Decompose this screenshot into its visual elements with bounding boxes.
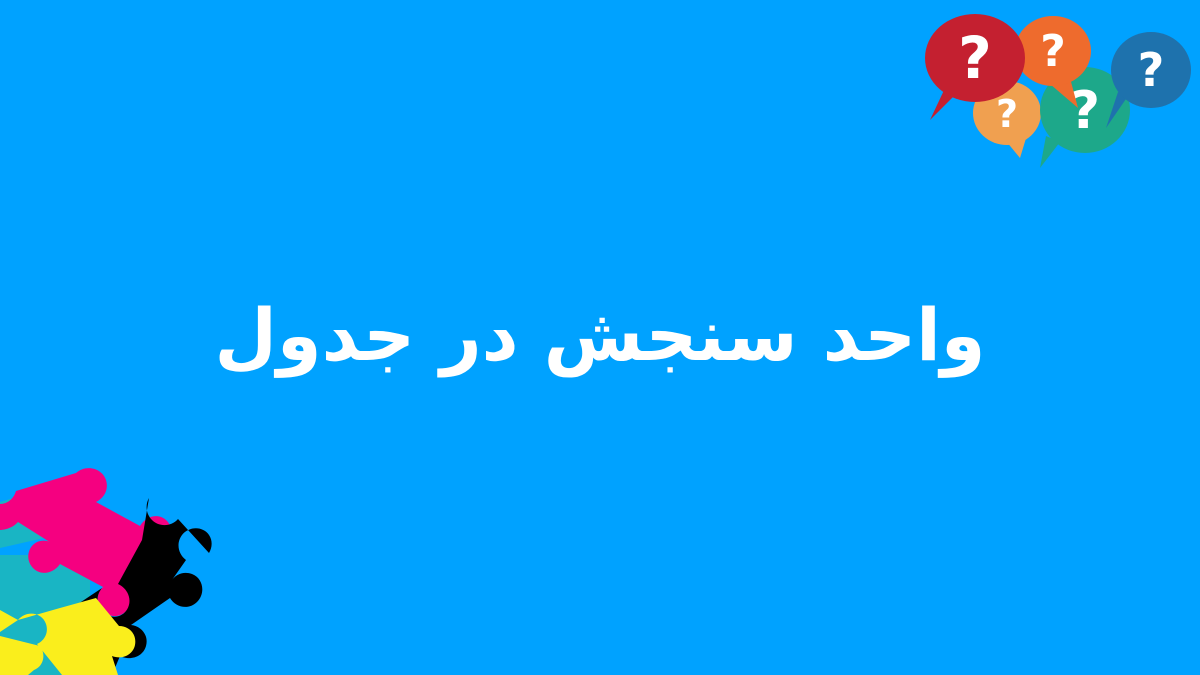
slide-canvas: ? ? ? ? ? [0, 0, 1200, 675]
slide-title: واحد سنجش در جدول [214, 290, 985, 386]
title-container: واحد سنجش در جدول [0, 0, 1200, 675]
